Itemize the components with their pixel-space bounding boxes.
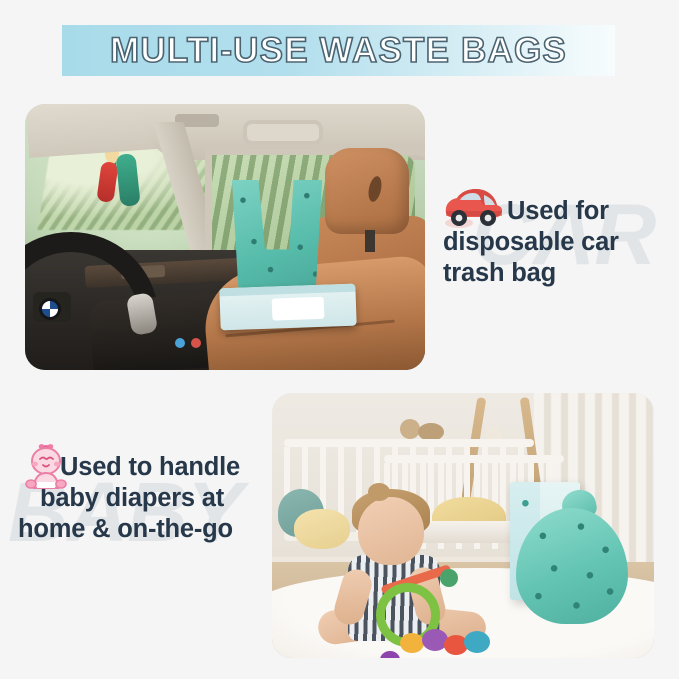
grab-handle [243, 120, 323, 145]
plush-toy-yellow [294, 509, 350, 549]
toy-knob-green [440, 569, 458, 587]
car-photo [25, 104, 425, 370]
title-banner: MULTI-USE WASTE BAGS [62, 25, 615, 76]
baby-hair-bun [368, 483, 390, 501]
bmw-badge-icon [39, 298, 61, 320]
toy-piece-yellow [400, 633, 424, 653]
page-title: MULTI-USE WASTE BAGS [110, 31, 567, 71]
toy-piece-blue [464, 631, 490, 653]
box-label [272, 297, 325, 321]
crib-rail-top [284, 439, 534, 447]
baby-caption-line-3: home & on-the-go [18, 514, 280, 545]
baby-icon [22, 442, 70, 494]
car-caption-line-3: trash bag [443, 258, 673, 289]
headrest-post [365, 230, 375, 252]
car-icon [443, 187, 505, 231]
crib2-rail-top [384, 455, 564, 463]
baby-photo [272, 393, 654, 658]
headrest [325, 148, 409, 234]
nursery-scene [272, 393, 654, 658]
console-button-red [191, 338, 201, 348]
product-box-in-car [219, 284, 356, 331]
baby-head [358, 497, 424, 565]
mobile-ball-1 [400, 419, 420, 439]
car-interior-scene [25, 104, 425, 370]
console-button-blue [175, 338, 185, 348]
infographic-root: MULTI-USE WASTE BAGS [0, 0, 679, 679]
car-caption-line-2: disposable car [443, 227, 673, 258]
